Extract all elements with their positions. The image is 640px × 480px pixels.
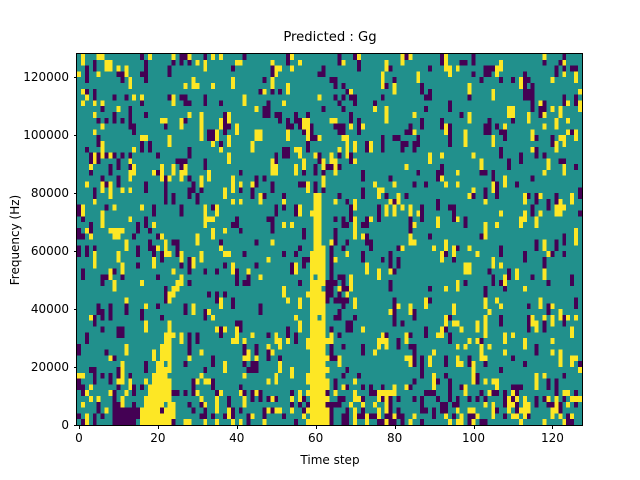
x-tick-label: 60 (308, 431, 323, 445)
x-tick-mark (79, 425, 80, 429)
y-tick-mark (74, 135, 78, 136)
x-tick-mark (474, 425, 475, 429)
y-tick-label: 40000 (31, 302, 69, 316)
x-tick-mark (316, 425, 317, 429)
x-tick-label: 100 (462, 431, 485, 445)
y-tick-mark (74, 251, 78, 252)
x-tick-label: 40 (229, 431, 244, 445)
y-tick-label: 100000 (23, 128, 69, 142)
figure-canvas: Predicted : Gg 020406080100120 020000400… (0, 0, 640, 480)
x-axis-label: Time step (77, 453, 583, 467)
chart-title: Predicted : Gg (77, 30, 583, 45)
y-tick-label: 80000 (31, 186, 69, 200)
x-tick-mark (552, 425, 553, 429)
y-tick-mark (74, 309, 78, 310)
y-tick-mark (74, 77, 78, 78)
y-axis-label: Frequency (Hz) (8, 194, 22, 285)
heatmap-plot-area (76, 53, 583, 426)
y-tick-mark (74, 425, 78, 426)
x-tick-mark (158, 425, 159, 429)
x-tick-label: 120 (541, 431, 564, 445)
x-tick-mark (237, 425, 238, 429)
heatmap-image (77, 54, 582, 425)
x-tick-label: 20 (150, 431, 165, 445)
x-tick-label: 0 (75, 431, 83, 445)
x-tick-label: 80 (387, 431, 402, 445)
y-tick-label: 20000 (31, 360, 69, 374)
x-tick-mark (395, 425, 396, 429)
y-tick-label: 60000 (31, 244, 69, 258)
y-tick-label: 120000 (23, 70, 69, 84)
y-tick-mark (74, 193, 78, 194)
y-tick-mark (74, 367, 78, 368)
y-tick-label: 0 (61, 418, 69, 432)
